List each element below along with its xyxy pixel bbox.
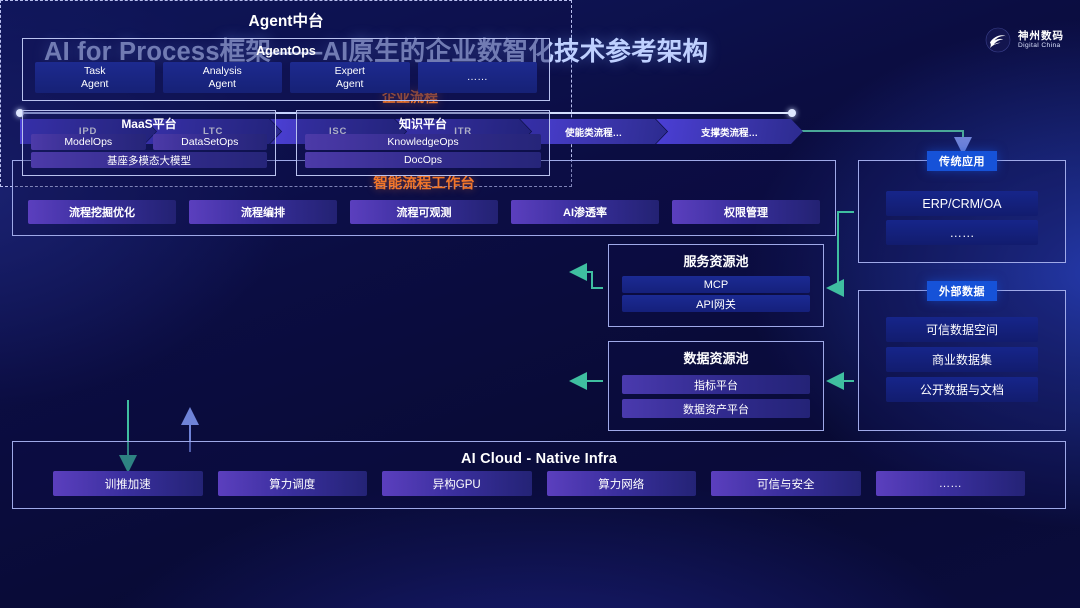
agentops-title: AgentOps — [23, 44, 549, 58]
data-pool-item-metrics-platform[interactable]: 指标平台 — [622, 375, 810, 394]
knowledge-platform-panel: 知识平台 KnowledgeOps DocOps — [296, 110, 550, 176]
workbench-item-ai-penetration[interactable]: AI渗透率 — [511, 200, 659, 224]
infra-item-heterogeneous-gpu[interactable]: 异构GPU — [382, 471, 532, 496]
agentops-item-analysis-agent[interactable]: Analysis Agent — [163, 62, 283, 93]
data-pool-title: 数据资源池 — [609, 348, 823, 367]
external-data-panel: 外部数据 可信数据空间 商业数据集 公开数据与文档 — [858, 290, 1066, 431]
maas-item-datasetops[interactable]: DataSetOps — [153, 134, 268, 150]
process-step-supporting[interactable]: 支撑类流程… — [656, 119, 803, 144]
analysis-agent-line2: Agent — [209, 78, 236, 91]
infra-item-compute-scheduling[interactable]: 算力调度 — [218, 471, 368, 496]
infra-item-more[interactable]: …… — [876, 471, 1026, 496]
maas-platform-panel: MaaS平台 ModelOps DataSetOps 基座多模态大模型 — [22, 110, 276, 176]
legacy-apps-badge: 传统应用 — [927, 151, 997, 171]
maas-platform-title: MaaS平台 — [23, 115, 275, 132]
task-agent-line2: Agent — [81, 78, 108, 91]
expert-agent-line1: Expert — [335, 65, 365, 78]
task-agent-line1: Task — [84, 65, 106, 78]
maas-item-foundation-model[interactable]: 基座多模态大模型 — [31, 152, 267, 168]
agentops-item-more[interactable]: …… — [418, 62, 538, 93]
agent-middle-platform: Agent中台 AgentOps Task Agent Analysis Age… — [0, 0, 572, 187]
external-data-item-commercial-datasets[interactable]: 商业数据集 — [886, 347, 1038, 372]
workbench-item-orchestration[interactable]: 流程编排 — [189, 200, 337, 224]
external-data-badge: 外部数据 — [927, 281, 997, 301]
analysis-agent-line1: Analysis — [203, 65, 242, 78]
maas-item-modelops[interactable]: ModelOps — [31, 134, 146, 150]
data-resource-pool: 数据资源池 指标平台 数据资产平台 — [608, 341, 824, 431]
data-pool-item-data-asset-platform[interactable]: 数据资产平台 — [622, 399, 810, 418]
more-agents-ellipsis: …… — [467, 71, 488, 84]
logo-text-cn: 神州数码 — [1018, 31, 1064, 42]
external-data-item-public-data-docs[interactable]: 公开数据与文档 — [886, 377, 1038, 402]
service-pool-item-mcp[interactable]: MCP — [622, 276, 810, 293]
infra-item-trust-security[interactable]: 可信与安全 — [711, 471, 861, 496]
infra-item-compute-network[interactable]: 算力网络 — [547, 471, 697, 496]
legacy-applications-panel: 传统应用 ERP/CRM/OA …… — [858, 160, 1066, 263]
workbench-item-permissions[interactable]: 权限管理 — [672, 200, 820, 224]
rail-dot-right — [788, 109, 796, 117]
legacy-apps-item-more[interactable]: …… — [886, 220, 1038, 245]
service-pool-item-api-gateway[interactable]: API网关 — [622, 295, 810, 312]
knowledge-platform-title: 知识平台 — [297, 115, 549, 132]
infra-item-training-acceleration[interactable]: 训推加速 — [53, 471, 203, 496]
agentops-item-task-agent[interactable]: Task Agent — [35, 62, 155, 93]
legacy-apps-item-erp-crm-oa[interactable]: ERP/CRM/OA — [886, 191, 1038, 216]
brand-logo: 神州数码 Digital China — [985, 27, 1064, 53]
workbench-item-observability[interactable]: 流程可观测 — [350, 200, 498, 224]
agentops-panel: AgentOps Task Agent Analysis Agent Exper… — [22, 38, 550, 101]
logo-text-en: Digital China — [1018, 43, 1064, 50]
ai-cloud-native-infra: AI Cloud - Native Infra 训推加速 算力调度 异构GPU … — [12, 441, 1066, 509]
spiral-swirl-icon — [985, 27, 1011, 53]
slide-root: AI for Process框架——AI原生的企业数智化技术参考架构 神州数码 … — [0, 0, 1080, 608]
service-resource-pool: 服务资源池 MCP API网关 — [608, 244, 824, 327]
knowledge-item-knowledgeops[interactable]: KnowledgeOps — [305, 134, 541, 150]
external-data-item-trusted-space[interactable]: 可信数据空间 — [886, 317, 1038, 342]
agent-platform-title: Agent中台 — [1, 9, 571, 31]
knowledge-item-docops[interactable]: DocOps — [305, 152, 541, 168]
service-pool-title: 服务资源池 — [609, 251, 823, 270]
workbench-item-mining[interactable]: 流程挖掘优化 — [28, 200, 176, 224]
infra-title: AI Cloud - Native Infra — [13, 451, 1065, 467]
agentops-item-expert-agent[interactable]: Expert Agent — [290, 62, 410, 93]
expert-agent-line2: Agent — [336, 78, 363, 91]
